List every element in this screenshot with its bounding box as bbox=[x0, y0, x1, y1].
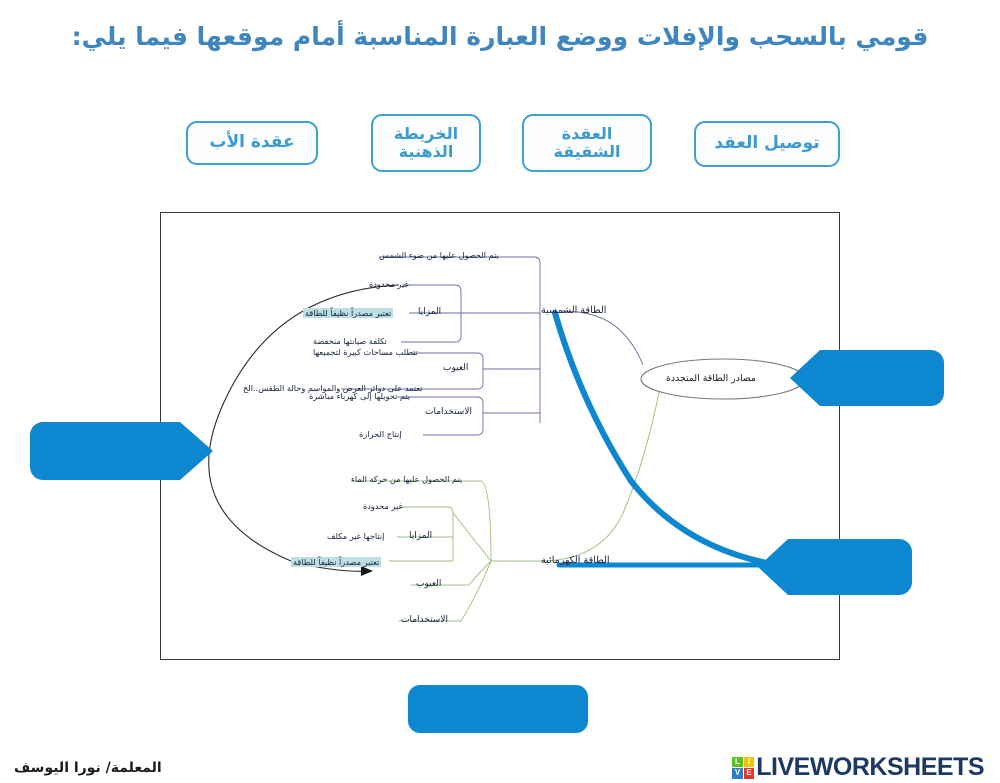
worksheet-page: قومي بالسحب والإفلات ووضع العبارة المناس… bbox=[0, 0, 1000, 783]
logo-letter-v: V bbox=[732, 768, 743, 779]
footer-teacher-name: المعلمة/ نورا اليوسف bbox=[14, 760, 162, 776]
mindmap-hydro-advantage-2: إنتاجها غير مكلف bbox=[327, 532, 384, 540]
mindmap-node-solar: الطاقة الشمسية bbox=[541, 306, 606, 316]
chip-label-line1: العقدة bbox=[562, 125, 613, 143]
logo-letter-i: I bbox=[744, 757, 755, 768]
chip-alkhareetah-althihniyah[interactable]: الخريطة الذهنية bbox=[371, 114, 481, 172]
mindmap-solar-uses-heading: الاستخدامات bbox=[425, 408, 472, 417]
mindmap-image: الطاقة الشمسية يتم الحصول عليها من ضوء ا… bbox=[160, 212, 840, 660]
mindmap-solar-advantage-3: تكلفة صيانتها منخفضة bbox=[313, 337, 387, 345]
chip-label-line1: الخريطة bbox=[394, 125, 458, 143]
dropzone-bottom[interactable] bbox=[408, 685, 588, 733]
mindmap-solar-use-2: إنتاج الحرارة bbox=[359, 430, 402, 438]
chip-aloqdah-alshaqeeqah[interactable]: العقدة الشقيقة bbox=[522, 114, 652, 172]
chip-label: توصيل العقد bbox=[714, 134, 819, 153]
logo-letter-l: L bbox=[732, 757, 743, 768]
dropzone-left[interactable] bbox=[30, 422, 180, 480]
mindmap-solar-advantage-1: غير محدودة bbox=[369, 280, 409, 288]
mindmap-solar-disadvantage-1: تتطلب مساحات كبيرة لتجميعها bbox=[313, 348, 418, 356]
mindmap-center-node-label: مصادر الطاقة المتجددة bbox=[666, 374, 756, 383]
mindmap-solar-source: يتم الحصول عليها من ضوء الشمس bbox=[379, 251, 499, 259]
mindmap-hydro-disadvantages-heading: العيوب bbox=[416, 580, 441, 589]
chip-tawseel-aloqad[interactable]: توصيل العقد bbox=[694, 121, 840, 167]
chip-label-line2: الشقيقة bbox=[553, 143, 620, 161]
mindmap-hydro-source: يتم الحصول عليها من حركة الماء bbox=[351, 475, 462, 483]
dropzone-right-top[interactable] bbox=[820, 350, 944, 406]
dropzone-right-bottom[interactable] bbox=[788, 539, 912, 595]
liveworksheets-logo: L I V E LIVEWORKSHEETS bbox=[732, 753, 984, 782]
chip-label: عقدة الأب bbox=[209, 133, 294, 152]
mindmap-solar-use-1: يتم تحويلها إلى كهرباء مباشرة bbox=[309, 392, 410, 400]
liveworksheets-wordmark: LIVEWORKSHEETS bbox=[756, 753, 984, 782]
mindmap-hydro-advantage-1: غير محدودة bbox=[363, 502, 403, 510]
mindmap-node-hydro: الطاقة الكهرمائية bbox=[541, 556, 610, 566]
chip-oqdat-alab[interactable]: عقدة الأب bbox=[186, 121, 318, 165]
liveworksheets-mark-icon: L I V E bbox=[732, 757, 754, 779]
logo-letter-e: E bbox=[744, 768, 755, 779]
mindmap-hydro-advantages-heading: المزايا bbox=[409, 532, 432, 541]
mindmap-solar-disadvantages-heading: العيوب bbox=[443, 364, 468, 373]
page-title: قومي بالسحب والإفلات ووضع العبارة المناس… bbox=[0, 22, 1000, 51]
mindmap-connectors bbox=[161, 213, 840, 660]
chip-label-line2: الذهنية bbox=[399, 143, 454, 161]
mindmap-hydro-advantage-3: تعتبر مصدراً نظيفاً للطاقة bbox=[291, 557, 381, 567]
mindmap-solar-advantages-heading: المزايا bbox=[418, 308, 441, 317]
mindmap-hydro-uses-heading: الاستخدامات bbox=[401, 616, 448, 625]
mindmap-solar-advantage-2: تعتبر مصدراً نظيفاً للطاقة bbox=[303, 308, 393, 318]
draggable-chip-row: عقدة الأب الخريطة الذهنية العقدة الشقيقة… bbox=[0, 112, 1000, 174]
